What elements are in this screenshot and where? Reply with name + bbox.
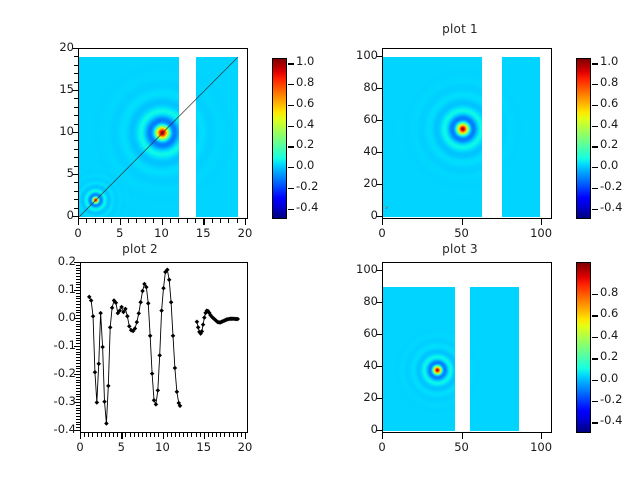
axis-tick-label: 50 bbox=[446, 442, 478, 453]
heatmap-image-patch bbox=[502, 57, 540, 217]
axis-tick bbox=[76, 332, 80, 333]
axis-tick bbox=[288, 188, 294, 189]
axis-tick bbox=[74, 115, 78, 116]
axis-tick bbox=[175, 433, 176, 437]
axis-tick bbox=[212, 433, 213, 437]
axis-tick bbox=[288, 126, 294, 127]
axis-tick bbox=[120, 219, 121, 225]
axis-tick bbox=[113, 433, 114, 437]
axis-tick bbox=[76, 307, 80, 308]
axis-tick bbox=[76, 368, 80, 369]
axis-tick bbox=[74, 73, 78, 74]
axis-tick bbox=[74, 191, 78, 192]
data-marker bbox=[136, 311, 141, 316]
axis-tick bbox=[162, 219, 163, 225]
axis-tick bbox=[179, 433, 180, 437]
axis-tick-label: 0.2 bbox=[600, 139, 640, 150]
axis-tick bbox=[76, 410, 80, 411]
axis-tick bbox=[171, 433, 172, 437]
axis-tick bbox=[76, 363, 80, 364]
axis-tick bbox=[462, 433, 463, 439]
axis-tick-label: 10 bbox=[36, 126, 74, 137]
axis-tick bbox=[288, 167, 294, 168]
axis-tick bbox=[76, 349, 80, 350]
axis-tick bbox=[208, 433, 209, 437]
axis-tick bbox=[288, 146, 294, 147]
axis-tick bbox=[178, 219, 179, 223]
axis-tick bbox=[229, 433, 230, 437]
data-marker bbox=[87, 295, 92, 300]
axis-tick-label: 20 bbox=[229, 228, 261, 239]
axis-tick bbox=[592, 167, 598, 168]
axis-tick bbox=[382, 219, 383, 225]
axis-tick bbox=[541, 219, 542, 225]
axis-tick bbox=[76, 293, 80, 294]
axis-tick bbox=[204, 433, 205, 439]
axis-tick-label: 0.2 bbox=[34, 256, 76, 267]
axis-tick-label: 50 bbox=[446, 228, 478, 239]
axis-tick bbox=[130, 433, 131, 437]
axis-tick bbox=[76, 335, 80, 336]
figure-canvas: 0510152005101520-0.4-0.20.00.20.40.60.81… bbox=[0, 0, 640, 480]
axis-tick-label: 60 bbox=[340, 328, 378, 339]
axes-plot0 bbox=[78, 48, 248, 219]
axis-tick bbox=[76, 326, 80, 327]
data-marker bbox=[127, 324, 132, 329]
axis-tick bbox=[74, 82, 78, 83]
axis-tick bbox=[76, 413, 80, 414]
heatmap-image-patch bbox=[383, 287, 455, 431]
subplot-bottom-left: plot 2 05101520-0.4-0.3-0.2-0.10.00.10.2 bbox=[0, 240, 320, 480]
axis-tick-label: 0 bbox=[366, 228, 398, 239]
subplot-title-3: plot 3 bbox=[350, 242, 570, 256]
axis-tick bbox=[288, 84, 294, 85]
axis-tick bbox=[245, 433, 246, 439]
data-marker bbox=[152, 398, 157, 403]
axis-tick bbox=[76, 357, 80, 358]
axis-tick-label: -0.2 bbox=[600, 181, 640, 192]
axis-tick bbox=[76, 312, 80, 313]
axis-tick bbox=[145, 219, 146, 223]
axis-tick-label: 0.1 bbox=[34, 284, 76, 295]
axis-tick-label: 0.8 bbox=[600, 77, 640, 88]
axis-tick-label: 0.0 bbox=[600, 373, 640, 384]
axis-tick-label: 0.8 bbox=[600, 287, 640, 298]
colorbar-plot1 bbox=[576, 58, 591, 219]
line-series-canvas bbox=[81, 263, 246, 431]
axis-tick-label: 0.4 bbox=[600, 119, 640, 130]
axis-tick bbox=[111, 219, 112, 223]
data-marker bbox=[161, 286, 166, 291]
axis-tick bbox=[76, 354, 80, 355]
axis-tick bbox=[76, 324, 80, 325]
axis-tick bbox=[76, 279, 80, 280]
axis-tick bbox=[86, 219, 87, 223]
axis-tick-label: 80 bbox=[340, 82, 378, 93]
axis-tick bbox=[288, 209, 294, 210]
axis-tick bbox=[237, 433, 238, 437]
axis-tick-label: -0.4 bbox=[600, 415, 640, 426]
subplot-top-left: 0510152005101520-0.4-0.20.00.20.40.60.81… bbox=[0, 14, 320, 240]
axis-tick bbox=[592, 105, 598, 106]
data-marker bbox=[135, 320, 140, 325]
axis-tick bbox=[541, 433, 542, 439]
data-marker bbox=[175, 390, 180, 395]
subplot-bottom-right: plot 3 050100020406080100-0.4-0.20.00.20… bbox=[320, 240, 640, 480]
axis-tick bbox=[76, 391, 80, 392]
axis-tick-label: 0 bbox=[64, 442, 96, 453]
axis-tick bbox=[76, 408, 80, 409]
axis-tick bbox=[212, 219, 213, 223]
data-marker bbox=[146, 301, 151, 306]
axes-plot2 bbox=[80, 262, 248, 433]
axis-tick bbox=[134, 433, 135, 437]
axis-tick bbox=[76, 380, 80, 381]
axis-tick bbox=[103, 219, 104, 223]
subplot-top-right: plot 1 050100020406080100-0.4-0.20.00.20… bbox=[320, 14, 640, 240]
axis-tick bbox=[76, 287, 80, 288]
axis-tick bbox=[233, 433, 234, 437]
axis-tick bbox=[592, 146, 598, 147]
axis-tick bbox=[76, 366, 80, 367]
axis-tick-label: 0.4 bbox=[600, 330, 640, 341]
axis-tick bbox=[76, 329, 80, 330]
axis-tick bbox=[76, 298, 80, 299]
axis-tick bbox=[142, 433, 143, 437]
data-marker bbox=[154, 402, 159, 407]
axis-tick bbox=[183, 433, 184, 437]
data-marker bbox=[196, 325, 201, 330]
axis-tick bbox=[462, 219, 463, 225]
data-marker bbox=[91, 314, 96, 319]
axis-tick bbox=[592, 126, 598, 127]
axis-tick bbox=[592, 337, 598, 338]
axis-tick-label: 40 bbox=[340, 360, 378, 371]
axis-tick bbox=[592, 401, 598, 402]
axis-tick bbox=[76, 304, 80, 305]
axis-tick-label: -0.4 bbox=[34, 424, 76, 435]
axis-tick bbox=[109, 433, 110, 437]
axis-tick bbox=[228, 219, 229, 223]
data-marker bbox=[108, 325, 113, 330]
axis-tick-label: 15 bbox=[36, 84, 74, 95]
data-marker bbox=[125, 314, 130, 319]
axis-tick bbox=[76, 343, 80, 344]
axis-tick bbox=[101, 433, 102, 437]
axis-tick bbox=[80, 433, 81, 439]
data-marker bbox=[106, 384, 111, 389]
axis-tick bbox=[76, 276, 80, 277]
axis-tick bbox=[76, 284, 80, 285]
data-marker bbox=[159, 308, 164, 313]
data-marker bbox=[173, 366, 178, 371]
axis-tick bbox=[76, 377, 80, 378]
axis-tick bbox=[220, 219, 221, 223]
axis-tick bbox=[592, 188, 598, 189]
axis-tick-label: -0.1 bbox=[34, 340, 76, 351]
axis-tick-label: 0 bbox=[366, 442, 398, 453]
axis-tick bbox=[76, 265, 80, 266]
axis-tick bbox=[76, 422, 80, 423]
data-marker bbox=[157, 353, 162, 358]
axis-tick bbox=[592, 422, 598, 423]
heatmap-image-patch bbox=[383, 57, 482, 217]
axis-tick bbox=[382, 433, 383, 439]
axis-tick bbox=[76, 268, 80, 269]
axis-tick-label: 5 bbox=[104, 228, 136, 239]
axis-tick bbox=[95, 219, 96, 223]
axis-tick bbox=[138, 433, 139, 437]
axis-tick-label: 0 bbox=[340, 210, 378, 221]
axis-tick-label: 100 bbox=[525, 442, 557, 453]
axis-tick bbox=[78, 219, 79, 225]
axis-tick bbox=[592, 84, 598, 85]
axis-tick-label: 0 bbox=[36, 210, 74, 221]
axis-tick bbox=[191, 433, 192, 437]
axis-tick bbox=[74, 157, 78, 158]
axis-tick bbox=[74, 166, 78, 167]
data-marker bbox=[140, 289, 145, 294]
axis-tick bbox=[74, 65, 78, 66]
axis-tick bbox=[220, 433, 221, 437]
axis-tick bbox=[74, 56, 78, 57]
colorbar-gradient-3 bbox=[577, 263, 590, 432]
data-marker bbox=[156, 388, 161, 393]
axis-tick bbox=[76, 405, 80, 406]
data-marker bbox=[167, 278, 172, 283]
axis-tick-label: 20 bbox=[340, 178, 378, 189]
axis-tick-label: -0.2 bbox=[34, 368, 76, 379]
axis-tick bbox=[74, 124, 78, 125]
data-marker bbox=[138, 300, 143, 305]
axis-tick bbox=[170, 219, 171, 223]
data-marker bbox=[201, 322, 206, 327]
axis-tick-label: 10 bbox=[146, 228, 178, 239]
data-marker bbox=[104, 421, 109, 426]
axis-tick bbox=[105, 433, 106, 437]
axis-tick bbox=[163, 433, 164, 439]
data-marker bbox=[171, 334, 176, 339]
colorbar-gradient-0 bbox=[273, 59, 286, 218]
axis-tick bbox=[224, 433, 225, 437]
axis-tick bbox=[74, 149, 78, 150]
axis-tick bbox=[154, 433, 155, 437]
axis-tick bbox=[76, 301, 80, 302]
axis-tick-label: -0.3 bbox=[34, 396, 76, 407]
axis-tick bbox=[167, 433, 168, 437]
axis-tick bbox=[76, 371, 80, 372]
axis-tick bbox=[187, 433, 188, 437]
axis-tick-label: 0.6 bbox=[600, 308, 640, 319]
axis-tick bbox=[245, 219, 246, 225]
axis-tick-label: 0.0 bbox=[34, 312, 76, 323]
axis-tick bbox=[74, 182, 78, 183]
axis-tick bbox=[76, 338, 80, 339]
heatmap-image-patch bbox=[196, 57, 238, 217]
axis-tick bbox=[288, 105, 294, 106]
axis-tick-label: 15 bbox=[188, 442, 220, 453]
axis-tick-label: 0.6 bbox=[600, 98, 640, 109]
axis-tick bbox=[237, 219, 238, 223]
data-marker bbox=[95, 400, 100, 405]
axis-tick-label: 40 bbox=[340, 146, 378, 157]
data-marker bbox=[102, 399, 107, 404]
data-marker bbox=[96, 362, 101, 367]
axis-tick bbox=[76, 315, 80, 316]
colorbar-plot3 bbox=[576, 262, 591, 433]
axis-tick-label: 0 bbox=[62, 228, 94, 239]
axis-tick bbox=[158, 433, 159, 437]
axis-tick-label: 20 bbox=[36, 42, 74, 53]
axis-tick bbox=[592, 380, 598, 381]
data-marker bbox=[98, 311, 103, 316]
axis-tick bbox=[241, 433, 242, 437]
axis-tick-label: 20 bbox=[229, 442, 261, 453]
data-marker bbox=[148, 334, 153, 339]
axis-tick-label: 80 bbox=[340, 296, 378, 307]
axis-tick bbox=[76, 360, 80, 361]
axis-tick bbox=[153, 219, 154, 223]
heatmap-image-patch bbox=[79, 57, 179, 217]
axis-tick bbox=[592, 63, 598, 64]
axis-tick bbox=[196, 433, 197, 437]
axis-tick bbox=[288, 63, 294, 64]
axis-tick bbox=[146, 433, 147, 437]
axis-tick-label: 15 bbox=[187, 228, 219, 239]
axis-tick bbox=[76, 394, 80, 395]
axis-tick bbox=[74, 140, 78, 141]
axis-tick bbox=[187, 219, 188, 223]
axis-tick-label: 0.0 bbox=[600, 160, 640, 171]
data-marker bbox=[195, 320, 200, 325]
axis-tick bbox=[76, 310, 80, 311]
axis-tick bbox=[76, 340, 80, 341]
axis-tick-label: 20 bbox=[340, 392, 378, 403]
axis-tick bbox=[125, 433, 126, 437]
axis-tick-label: 1.0 bbox=[600, 56, 640, 67]
axis-tick bbox=[76, 427, 80, 428]
axis-tick bbox=[195, 219, 196, 223]
axis-tick-label: 5 bbox=[105, 442, 137, 453]
axis-tick bbox=[74, 208, 78, 209]
axis-tick-label: 100 bbox=[340, 50, 378, 61]
axis-tick-label: -0.2 bbox=[600, 394, 640, 405]
data-marker bbox=[89, 298, 94, 303]
axis-tick-label: 100 bbox=[340, 264, 378, 275]
axis-tick bbox=[74, 199, 78, 200]
axis-tick-label: 5 bbox=[36, 168, 74, 179]
axis-tick bbox=[121, 433, 122, 439]
axis-tick-label: 60 bbox=[340, 114, 378, 125]
axis-tick bbox=[592, 209, 598, 210]
axis-tick bbox=[76, 321, 80, 322]
heatmap-image-patch bbox=[470, 287, 519, 431]
axis-tick bbox=[592, 294, 598, 295]
axis-tick-label: 0 bbox=[340, 424, 378, 435]
axis-tick bbox=[97, 433, 98, 437]
subplot-title-1: plot 1 bbox=[350, 22, 570, 36]
axis-tick-label: 100 bbox=[525, 228, 557, 239]
axis-tick bbox=[76, 396, 80, 397]
axis-tick bbox=[76, 382, 80, 383]
data-marker bbox=[150, 371, 155, 376]
colorbar-gradient-1 bbox=[577, 59, 590, 218]
data-marker bbox=[110, 306, 115, 311]
axes-plot1 bbox=[382, 48, 552, 219]
axis-tick bbox=[200, 433, 201, 437]
data-marker bbox=[202, 315, 207, 320]
axis-tick bbox=[74, 107, 78, 108]
axis-tick-label: -0.4 bbox=[600, 202, 640, 213]
axis-tick-label: 0.2 bbox=[600, 351, 640, 362]
axis-tick bbox=[74, 98, 78, 99]
axis-tick bbox=[128, 219, 129, 223]
axis-tick bbox=[76, 419, 80, 420]
axis-tick bbox=[76, 273, 80, 274]
axis-tick-label: 10 bbox=[147, 442, 179, 453]
axis-tick bbox=[136, 219, 137, 223]
colorbar-plot0 bbox=[272, 58, 287, 219]
axis-tick bbox=[203, 219, 204, 225]
axis-tick bbox=[592, 315, 598, 316]
axis-tick bbox=[76, 296, 80, 297]
axis-tick bbox=[76, 282, 80, 283]
axis-tick bbox=[88, 433, 89, 437]
data-marker bbox=[93, 370, 98, 375]
axis-tick bbox=[84, 433, 85, 437]
axis-tick bbox=[76, 388, 80, 389]
data-marker bbox=[119, 305, 124, 310]
axis-tick bbox=[76, 352, 80, 353]
axis-tick bbox=[216, 433, 217, 437]
axis-tick bbox=[76, 399, 80, 400]
axis-tick bbox=[592, 358, 598, 359]
axis-tick bbox=[76, 424, 80, 425]
axes-plot3 bbox=[382, 262, 552, 433]
axis-tick bbox=[76, 416, 80, 417]
axis-tick bbox=[92, 433, 93, 437]
axis-tick bbox=[150, 433, 151, 437]
data-marker bbox=[169, 300, 174, 305]
axis-tick bbox=[76, 385, 80, 386]
data-marker bbox=[100, 345, 105, 350]
axis-tick bbox=[76, 270, 80, 271]
axis-tick bbox=[117, 433, 118, 437]
